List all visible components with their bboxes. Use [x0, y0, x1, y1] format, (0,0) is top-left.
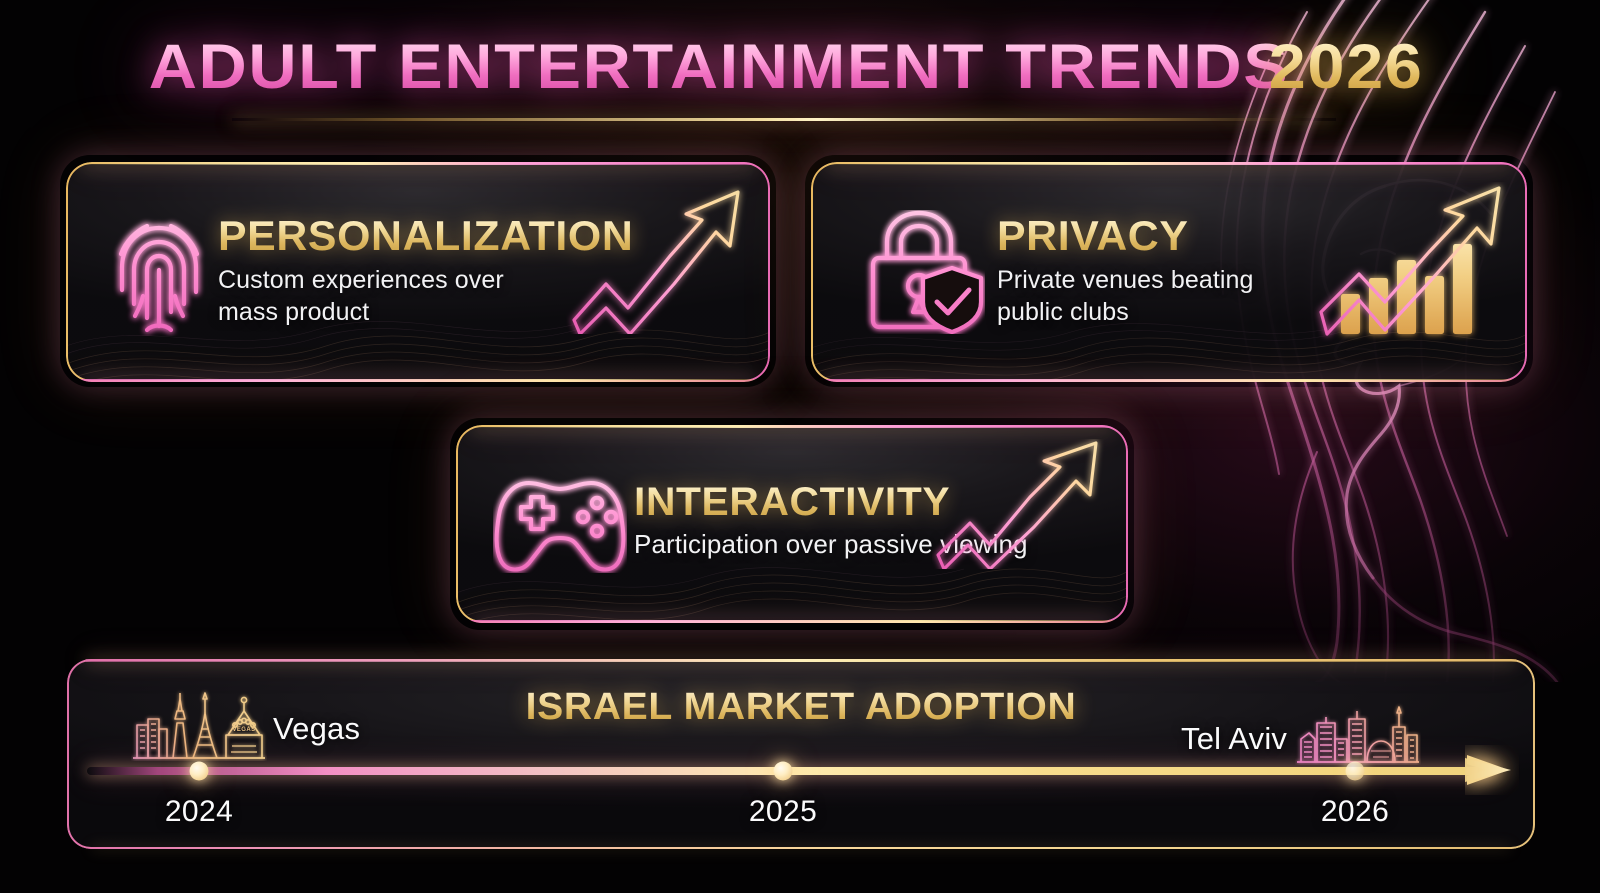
lock-shield-icon [845, 210, 997, 334]
gamepad-icon [486, 475, 634, 573]
card-body-privacy-line1: Private venues beating [997, 265, 1331, 297]
israel-market-adoption-panel: ISRAEL MARKET ADOPTION [67, 659, 1535, 849]
timeline-year-2024: 2024 [165, 795, 233, 829]
timeline-marker-2024[interactable] [190, 762, 209, 781]
card-body-interactivity-line1: Participation over passive viewing [634, 528, 1120, 561]
page-title: ADULT ENTERTAINMENT TRENDS2026 [0, 36, 1600, 99]
title-year: 2026 [1269, 36, 1424, 99]
card-heading-privacy: PRIVACY [997, 215, 1338, 257]
timeline-arrowhead-icon [1465, 745, 1519, 800]
timeline-left-city-label: Vegas [273, 711, 360, 747]
card-body-personalization-line2: mass product [218, 297, 625, 329]
timeline-bottom-glow [91, 847, 1511, 850]
fingerprint-icon [100, 208, 218, 336]
card-heading-interactivity: INTERACTIVITY [634, 482, 1128, 522]
card-body-privacy-line2: public clubs [997, 297, 1331, 329]
timeline-marker-2026[interactable] [1346, 762, 1365, 781]
trend-card-personalization[interactable]: PERSONALIZATION Custom experiences over … [66, 162, 770, 382]
card-body-personalization-line1: Custom experiences over [218, 265, 625, 297]
timeline-marker-2025[interactable] [774, 762, 793, 781]
trend-card-privacy[interactable]: PRIVACY Private venues beating public cl… [811, 162, 1527, 382]
timeline-top-glow [85, 659, 1517, 662]
timeline-right-city-label: Tel Aviv [1181, 721, 1287, 757]
trend-card-interactivity[interactable]: INTERACTIVITY Participation over passive… [456, 425, 1128, 623]
title-main: ADULT ENTERTAINMENT TRENDS [149, 36, 1290, 99]
tel-aviv-skyline-icon [1295, 689, 1421, 770]
title-divider [232, 118, 1336, 121]
infographic-canvas: ADULT ENTERTAINMENT TRENDS2026 [0, 0, 1600, 893]
timeline-year-2025: 2025 [749, 795, 817, 829]
svg-text:VEGAS: VEGAS [232, 727, 255, 733]
timeline-year-2026: 2026 [1321, 795, 1389, 829]
vegas-skyline-icon: VEGAS [131, 689, 267, 766]
card-heading-personalization: PERSONALIZATION [218, 215, 633, 257]
